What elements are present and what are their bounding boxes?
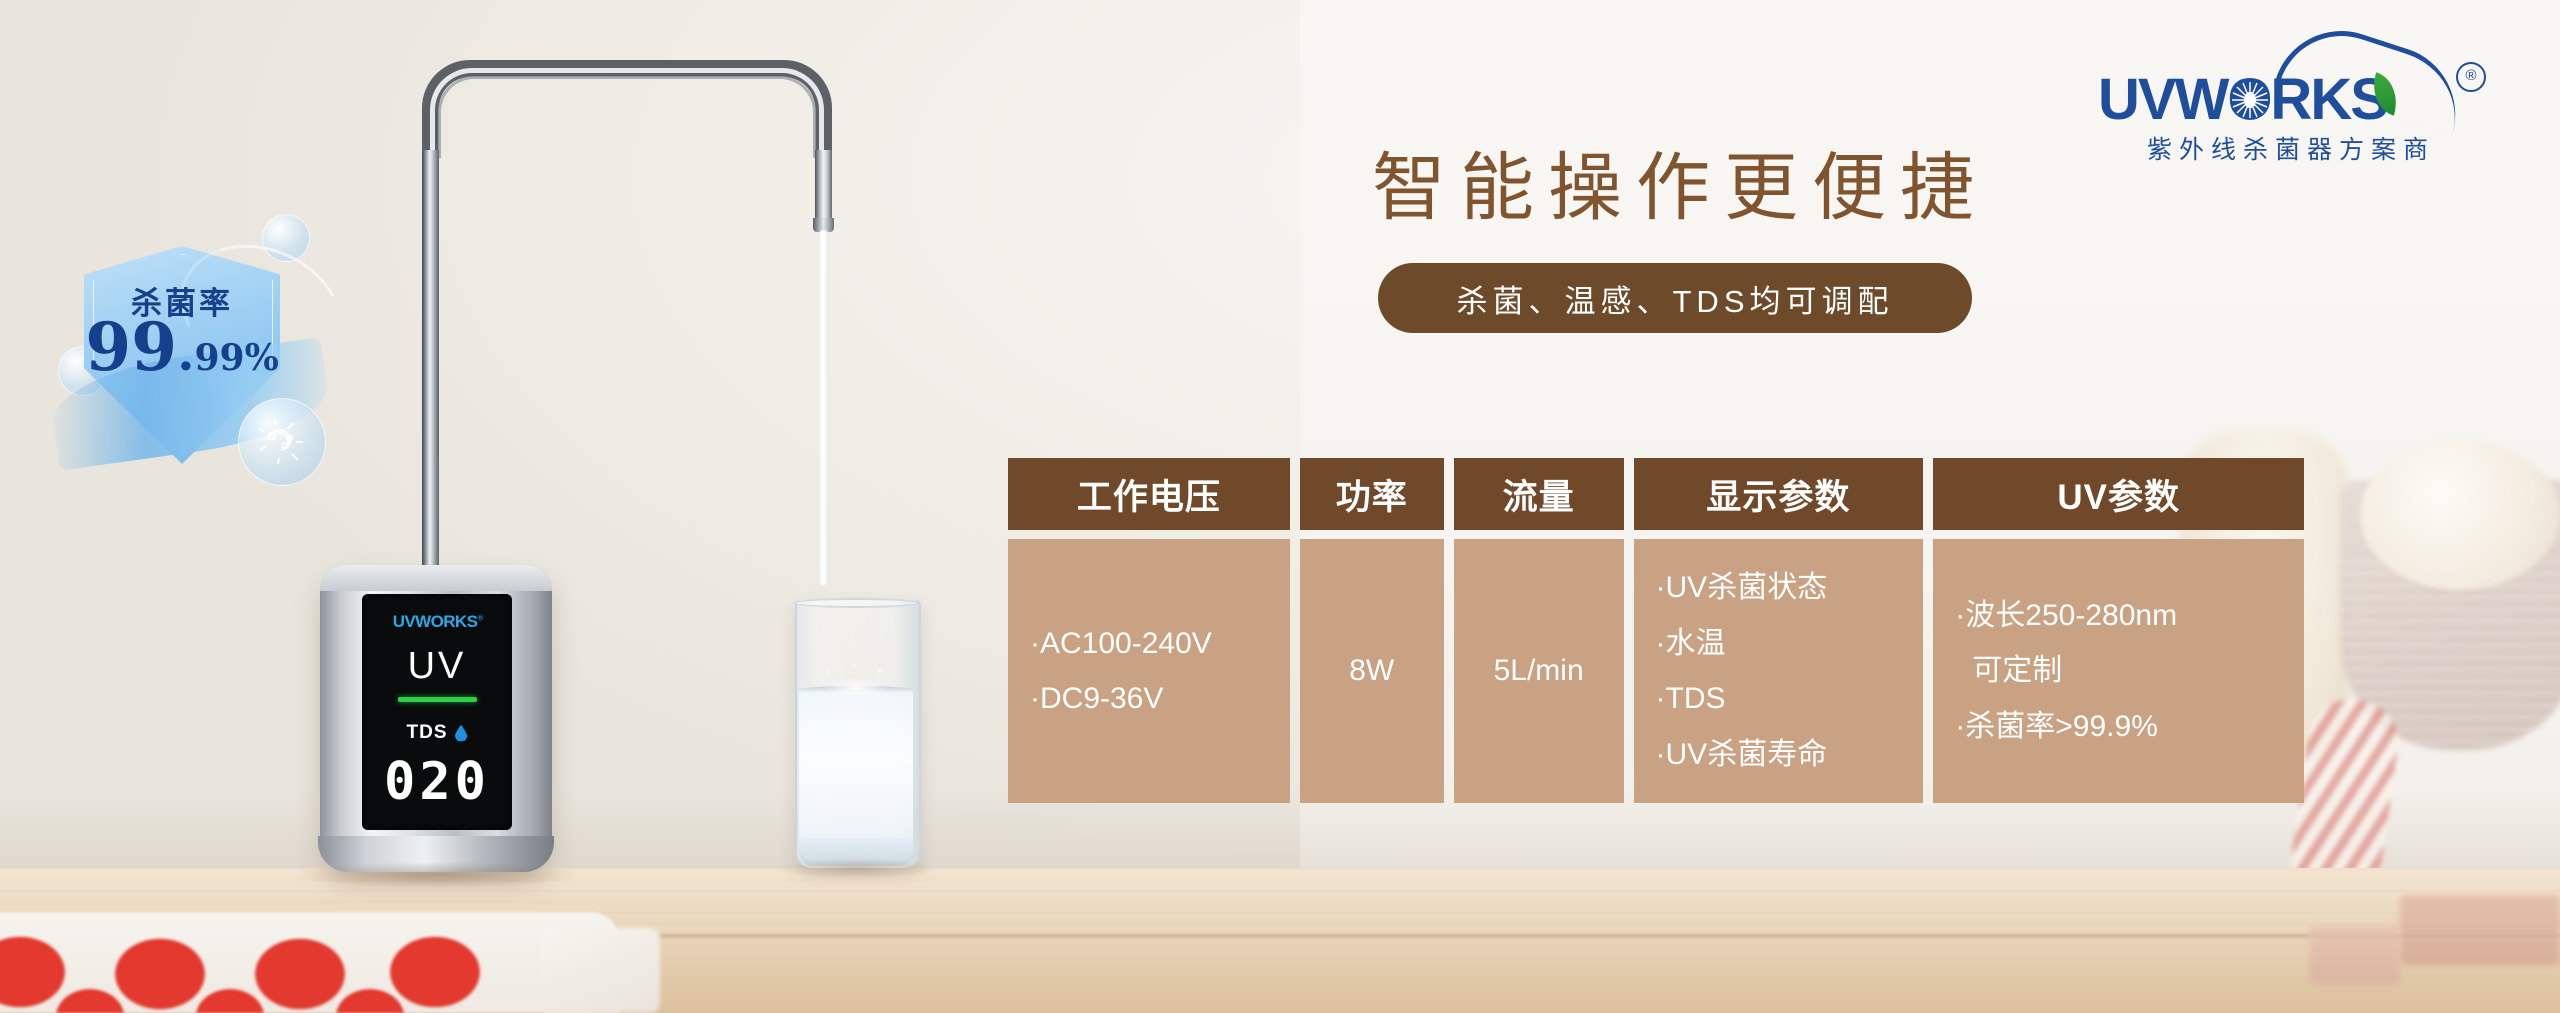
spec-line: 8W: [1349, 643, 1394, 699]
glass-rim: [793, 598, 919, 608]
glass-shadow: [778, 858, 936, 880]
yarn-ball: [2360, 440, 2560, 590]
spec-column: 流量 5L/min: [1454, 458, 1624, 803]
wood-block-small: [2310, 925, 2400, 985]
logo-subtitle: 紫外线杀菌器方案商: [2098, 130, 2484, 166]
badge-value: 99.99%: [84, 314, 280, 380]
spec-table: 工作电压 ·AC100-240V ·DC9-36V 功率 8W 流量 5L/mi…: [1008, 458, 2304, 803]
spec-line: ·UV杀菌状态: [1656, 560, 1828, 616]
page-title: 智能操作更便捷: [1372, 128, 1988, 235]
faucet-spout: [815, 150, 832, 225]
registered-trademark-icon: ®: [2456, 62, 2486, 92]
device-tds-value: 020: [362, 752, 512, 812]
subtitle-pill: 杀菌、温感、TDS均可调配: [1378, 263, 1972, 333]
spec-line: 可定制: [1955, 643, 2062, 699]
spec-line: ·波长250-280nm: [1955, 588, 2177, 644]
spec-cell: 5L/min: [1454, 539, 1624, 803]
germ-icon: [254, 414, 308, 466]
spec-column: 工作电压 ·AC100-240V ·DC9-36V: [1008, 458, 1290, 803]
spec-line: ·AC100-240V: [1030, 616, 1212, 672]
badge-value-dot: .: [177, 323, 194, 382]
device-logo-registered-icon: ®: [477, 614, 483, 623]
badge-value-major: 99: [85, 308, 177, 386]
faucet-arc-highlight-inner: [438, 76, 816, 158]
device-tds-row: TDS: [362, 722, 512, 744]
device-mode-label: UV: [362, 645, 512, 688]
product-banner: UVWORKS® UV TDS 020 杀菌率 99.99%: [0, 0, 2560, 1013]
water-drop-icon: [455, 725, 468, 742]
spec-column: 功率 8W: [1300, 458, 1444, 803]
spec-line: ·DC9-36V: [1030, 671, 1163, 727]
spec-line: 5L/min: [1494, 643, 1584, 699]
checkered-cloth: [0, 912, 620, 1013]
water-stream: [818, 230, 829, 585]
spec-cell: 8W: [1300, 539, 1444, 803]
spec-header: UV参数: [1933, 458, 2304, 530]
spec-cell: ·AC100-240V ·DC9-36V: [1008, 539, 1290, 803]
wood-blocks: [2400, 895, 2560, 965]
device-logo-text: UVWORKS: [393, 612, 478, 631]
spec-line: ·UV杀菌寿命: [1656, 727, 1828, 783]
spec-cell: ·波长250-280nm 可定制 ·杀菌率>99.9%: [1933, 539, 2304, 803]
spec-line: ·水温: [1656, 616, 1726, 672]
subtitle-pill-label: 杀菌、温感、TDS均可调配: [1457, 276, 1894, 321]
spec-header: 流量: [1454, 458, 1624, 530]
cloth-fold: [540, 928, 660, 1013]
water-splash: [810, 662, 902, 696]
logo-wordmark: UVWORKS: [2098, 66, 2478, 133]
sterilization-rate-badge: 杀菌率 99.99%: [48, 196, 348, 496]
device-top-cap: [320, 565, 552, 591]
spec-column: 显示参数 ·UV杀菌状态 ·水温 ·TDS ·UV杀菌寿命: [1634, 458, 1924, 803]
device-status-bar: [398, 697, 477, 702]
device-tds-label: TDS: [407, 722, 448, 743]
glass-water-body: [799, 690, 913, 862]
spec-cell: ·UV杀菌状态 ·水温 ·TDS ·UV杀菌寿命: [1634, 539, 1924, 803]
spec-header: 工作电压: [1008, 458, 1290, 530]
device-shadow: [300, 862, 575, 888]
spec-column: UV参数 ·波长250-280nm 可定制 ·杀菌率>99.9%: [1933, 458, 2304, 803]
badge-value-minor: 99%: [194, 337, 278, 379]
spec-line: ·TDS: [1656, 671, 1726, 727]
spec-header: 功率: [1300, 458, 1444, 530]
faucet-riser: [422, 150, 439, 600]
device-screen-logo: UVWORKS®: [374, 612, 502, 638]
spec-line: ·杀菌率>99.9%: [1955, 699, 2158, 755]
spec-header: 显示参数: [1634, 458, 1924, 530]
sunburst-icon: [2228, 78, 2272, 122]
